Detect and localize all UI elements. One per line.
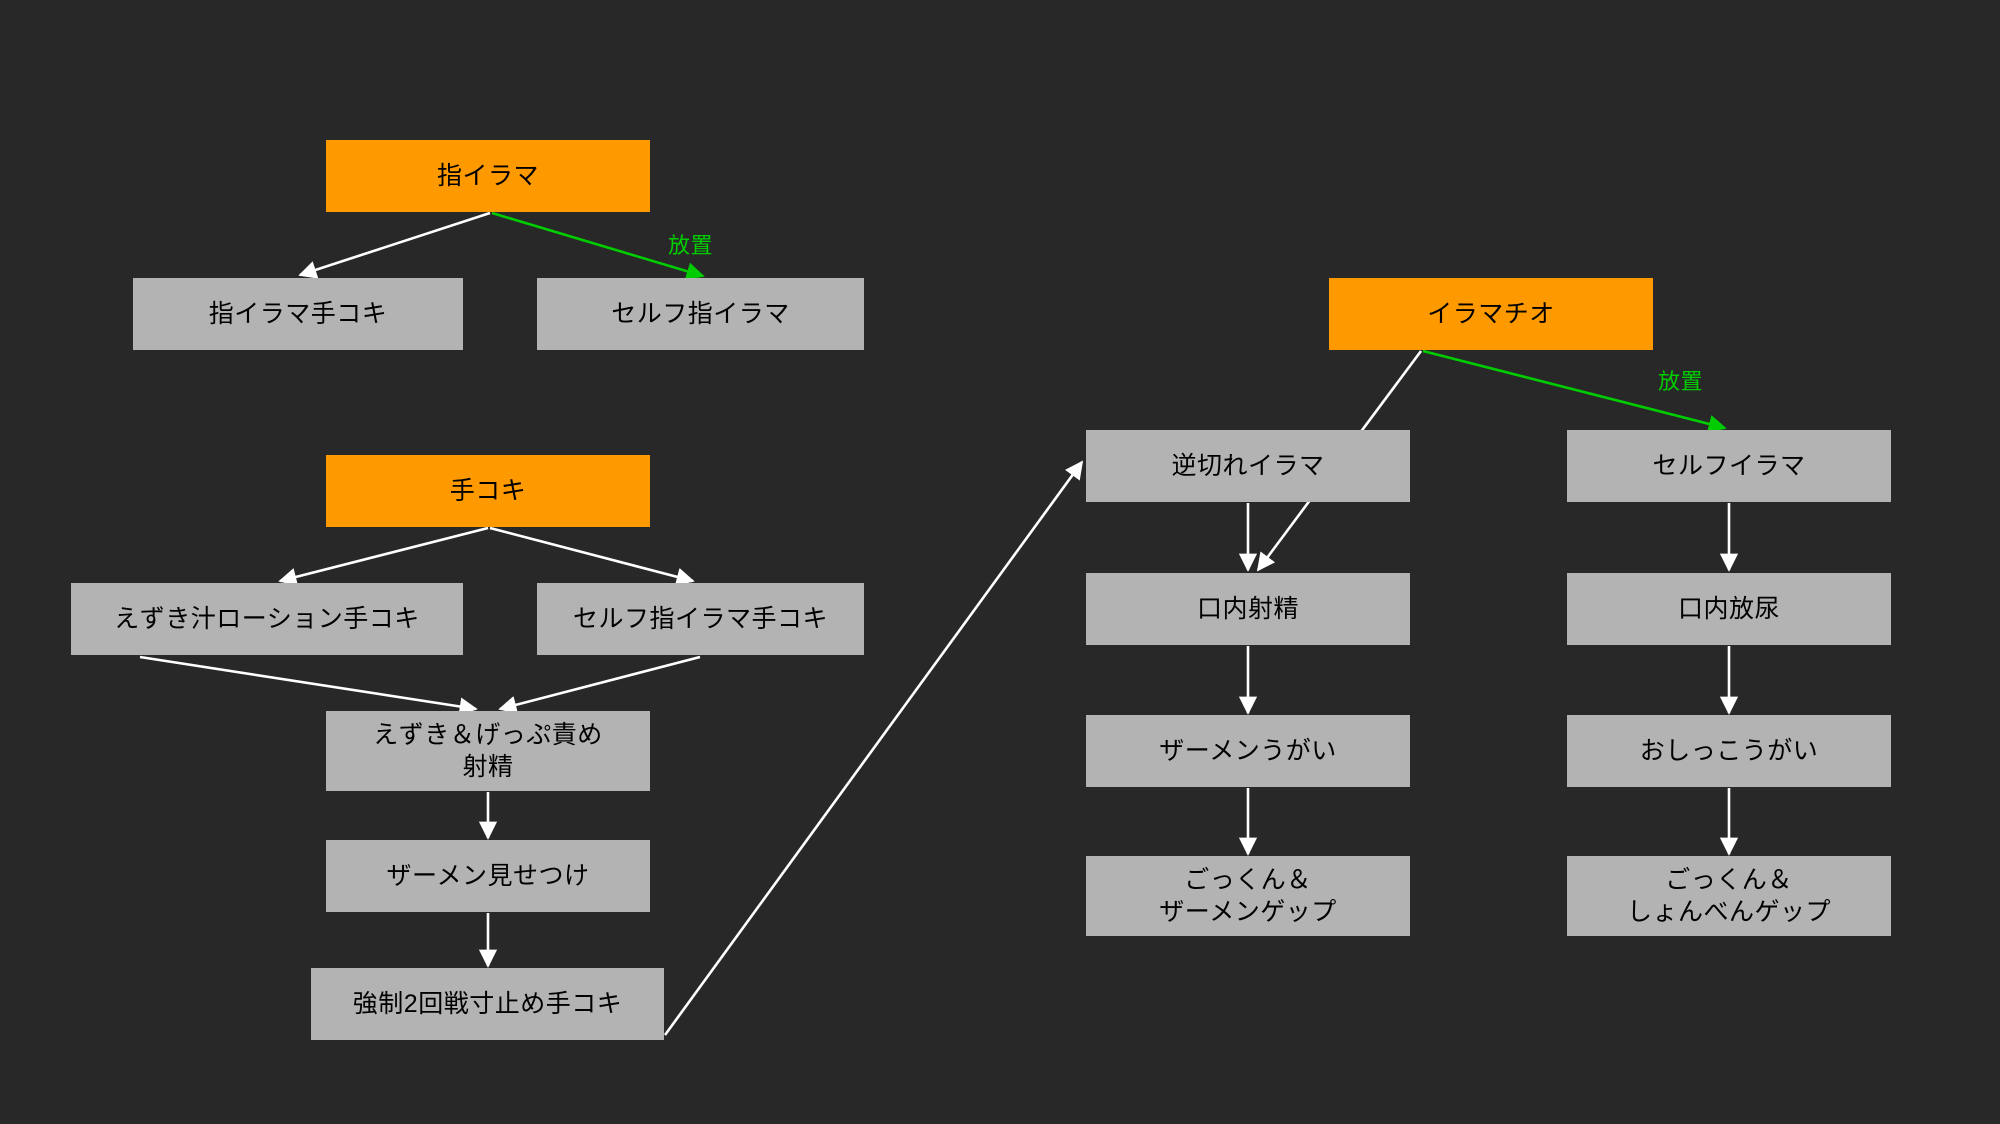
edge-e9 [665, 462, 1082, 1035]
node-gyakugire_irama[interactable]: 逆切れイラマ [1086, 430, 1410, 502]
node-self_yubi_irama[interactable]: セルフ指イラマ [537, 278, 864, 350]
node-tekoki[interactable]: 手コキ [326, 455, 650, 527]
node-gokkun_zamen[interactable]: ごっくん＆ ザーメンゲップ [1086, 856, 1410, 936]
edge-layer [0, 0, 2000, 1124]
edge-e4 [490, 528, 693, 581]
node-kounai_hounyou[interactable]: 口内放尿 [1567, 573, 1891, 645]
node-self_yubi_tekoki[interactable]: セルフ指イラマ手コキ [537, 583, 864, 655]
edge-e3 [280, 528, 488, 581]
edge-e1 [300, 213, 490, 275]
edge-label-label_houchi_left: 放置 [668, 228, 713, 260]
node-self_irama[interactable]: セルフイラマ [1567, 430, 1891, 502]
node-ezuki_lotion[interactable]: えずき汁ローション手コキ [71, 583, 463, 655]
node-ezuki_geppu[interactable]: えずき＆げっぷ責め 射精 [326, 711, 650, 791]
node-kyosei_2kaisen[interactable]: 強制2回戦寸止め手コキ [311, 968, 664, 1040]
edge-e5 [140, 657, 476, 709]
node-yubi_irama[interactable]: 指イラマ [326, 140, 650, 212]
edge-label-label_houchi_right: 放置 [1658, 364, 1703, 396]
node-kounai_shasei[interactable]: 口内射精 [1086, 573, 1410, 645]
node-iramachio[interactable]: イラマチオ [1329, 278, 1653, 350]
node-yubi_irama_tekoki[interactable]: 指イラマ手コキ [133, 278, 463, 350]
edge-e6 [500, 657, 700, 709]
diagram-canvas: 指イラマ指イラマ手コキセルフ指イラマ手コキえずき汁ローション手コキセルフ指イラマ… [0, 0, 2000, 1124]
node-zamen_ugai[interactable]: ザーメンうがい [1086, 715, 1410, 787]
node-oshikko_ugai[interactable]: おしっこうがい [1567, 715, 1891, 787]
node-zamen_misetsuke[interactable]: ザーメン見せつけ [326, 840, 650, 912]
node-gokkun_shonben[interactable]: ごっくん＆ しょんべんゲップ [1567, 856, 1891, 936]
